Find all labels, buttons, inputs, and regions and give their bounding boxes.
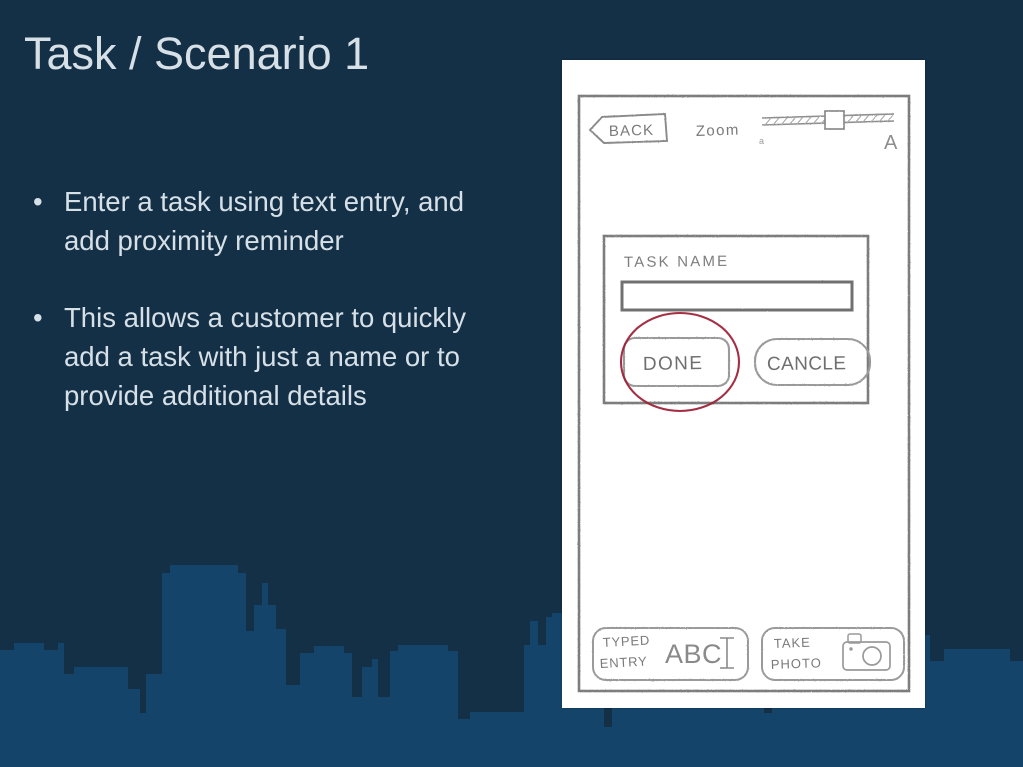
wireframe-sketch: BACK Zoom a A TASK NAME <box>562 60 925 708</box>
zoom-slider-min-label: a <box>759 136 764 146</box>
bullet-text: Enter a task using text entry, and add p… <box>64 186 464 256</box>
bullet-marker-icon: • <box>33 298 43 337</box>
bullet-marker-icon: • <box>33 182 43 221</box>
typed-entry-label-line2: ENTRY <box>599 654 648 671</box>
list-item: • Enter a task using text entry, and add… <box>24 182 474 260</box>
bullet-text: This allows a customer to quickly add a … <box>64 302 466 411</box>
paper-background <box>562 60 925 708</box>
bullet-list: • Enter a task using text entry, and add… <box>24 182 514 453</box>
take-photo-label-line2: PHOTO <box>771 655 822 672</box>
zoom-slider-thumb[interactable] <box>825 111 844 129</box>
back-button-label: BACK <box>609 122 655 140</box>
page-title: Task / Scenario 1 <box>24 28 369 80</box>
done-button-label: DONE <box>643 353 704 375</box>
take-photo-label-line1: TAKE <box>774 635 812 651</box>
typed-entry-glyph: ABC <box>665 639 722 669</box>
zoom-label: Zoom <box>696 121 741 140</box>
task-name-label: TASK NAME <box>624 253 730 271</box>
typed-entry-label-line1: TYPED <box>602 633 650 650</box>
task-name-input[interactable] <box>622 282 852 310</box>
wireframe-sketch-photo: BACK Zoom a A TASK NAME <box>562 60 925 708</box>
zoom-slider-max-label: A <box>884 132 898 154</box>
list-item: • This allows a customer to quickly add … <box>24 298 474 415</box>
cancel-button-label: CANCLE <box>767 353 847 375</box>
